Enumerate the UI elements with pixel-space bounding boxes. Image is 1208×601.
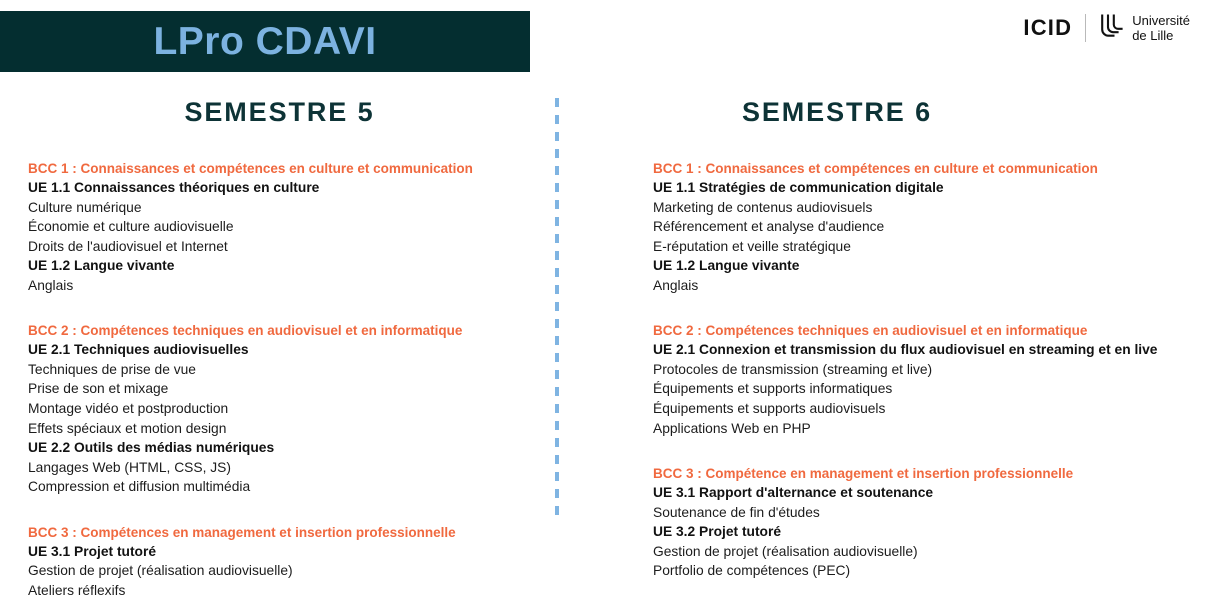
ue-title: UE 3.1 Projet tutoré xyxy=(28,542,535,562)
bcc-title: BCC 3 : Compétences en management et ins… xyxy=(28,525,535,541)
bcc-group: BCC 1 : Connaissances et compétences en … xyxy=(653,161,1133,295)
course-item: Anglais xyxy=(28,276,535,296)
ue-title: UE 2.1 Connexion et transmission du flux… xyxy=(653,340,1133,360)
institution-logos: ICID Université de Lille xyxy=(1023,11,1190,45)
semester-heading: SEMESTRE 5 xyxy=(28,97,535,128)
ue-title: UE 1.1 Connaissances théoriques en cultu… xyxy=(28,178,535,198)
semesters-container: SEMESTRE 5 BCC 1 : Connaissances et comp… xyxy=(0,84,1208,518)
course-item: Applications Web en PHP xyxy=(653,419,1133,439)
semester-heading: SEMESTRE 6 xyxy=(653,97,1133,128)
icid-logo-text: ICID xyxy=(1023,17,1072,39)
bcc-title: BCC 2 : Compétences techniques en audiov… xyxy=(28,323,535,339)
logo-separator xyxy=(1085,14,1086,42)
course-item: Gestion de projet (réalisation audiovisu… xyxy=(653,542,1133,562)
bcc-title: BCC 2 : Compétences techniques en audiov… xyxy=(653,323,1133,339)
course-item: Anglais xyxy=(653,276,1133,296)
course-item: Gestion de projet (réalisation audiovisu… xyxy=(28,561,535,581)
column-divider xyxy=(555,98,559,518)
bcc-list-semester-5: BCC 1 : Connaissances et compétences en … xyxy=(28,161,535,601)
course-item: Équipements et supports informatiques xyxy=(653,379,1133,399)
course-item: Techniques de prise de vue xyxy=(28,360,535,380)
course-item: Droits de l'audiovisuel et Internet xyxy=(28,237,535,257)
course-item: Montage vidéo et postproduction xyxy=(28,399,535,419)
course-item: Effets spéciaux et motion design xyxy=(28,419,535,439)
ue-title: UE 1.1 Stratégies de communication digit… xyxy=(653,178,1133,198)
bcc-title: BCC 1 : Connaissances et compétences en … xyxy=(28,161,535,177)
course-item: Langages Web (HTML, CSS, JS) xyxy=(28,458,535,478)
program-title-banner: LPro CDAVI xyxy=(0,11,530,72)
page-header: LPro CDAVI ICID Université de Lille xyxy=(0,0,1208,84)
course-item: Protocoles de transmission (streaming et… xyxy=(653,360,1133,380)
course-item: Marketing de contenus audiovisuels xyxy=(653,198,1133,218)
bcc-group: BCC 3 : Compétences en management et ins… xyxy=(28,525,535,601)
bcc-group: BCC 1 : Connaissances et compétences en … xyxy=(28,161,535,295)
bcc-group: BCC 2 : Compétences techniques en audiov… xyxy=(653,323,1133,438)
university-name-line2: de Lille xyxy=(1132,28,1190,43)
bcc-title: BCC 1 : Connaissances et compétences en … xyxy=(653,161,1133,177)
course-item: Prise de son et mixage xyxy=(28,379,535,399)
course-item: Compression et diffusion multimédia xyxy=(28,477,535,497)
bcc-list-semester-6: BCC 1 : Connaissances et compétences en … xyxy=(653,161,1133,581)
ue-title: UE 2.1 Techniques audiovisuelles xyxy=(28,340,535,360)
course-item: Culture numérique xyxy=(28,198,535,218)
semester-column-6: SEMESTRE 6 BCC 1 : Connaissances et comp… xyxy=(598,84,1153,518)
universite-de-lille-wordmark: Université de Lille xyxy=(1132,13,1190,44)
course-item: Ateliers réflexifs xyxy=(28,581,535,601)
bcc-title: BCC 3 : Compétence en management et inse… xyxy=(653,466,1133,482)
ue-title: UE 2.2 Outils des médias numériques xyxy=(28,438,535,458)
course-item: E-réputation et veille stratégique xyxy=(653,237,1133,257)
course-item: Portfolio de compétences (PEC) xyxy=(653,561,1133,581)
ue-title: UE 3.1 Rapport d'alternance et soutenanc… xyxy=(653,483,1133,503)
university-name-line1: Université xyxy=(1132,13,1190,28)
universite-de-lille-logo: Université de Lille xyxy=(1099,12,1190,45)
ue-title: UE 3.2 Projet tutoré xyxy=(653,522,1133,542)
universite-de-lille-mark-icon xyxy=(1099,12,1125,45)
course-item: Équipements et supports audiovisuels xyxy=(653,399,1133,419)
bcc-group: BCC 2 : Compétences techniques en audiov… xyxy=(28,323,535,497)
ue-title: UE 1.2 Langue vivante xyxy=(28,256,535,276)
course-item: Référencement et analyse d'audience xyxy=(653,217,1133,237)
semester-column-5: SEMESTRE 5 BCC 1 : Connaissances et comp… xyxy=(0,84,555,518)
bcc-group: BCC 3 : Compétence en management et inse… xyxy=(653,466,1133,581)
course-item: Soutenance de fin d'études xyxy=(653,503,1133,523)
course-item: Économie et culture audiovisuelle xyxy=(28,217,535,237)
program-title: LPro CDAVI xyxy=(153,22,376,61)
ue-title: UE 1.2 Langue vivante xyxy=(653,256,1133,276)
